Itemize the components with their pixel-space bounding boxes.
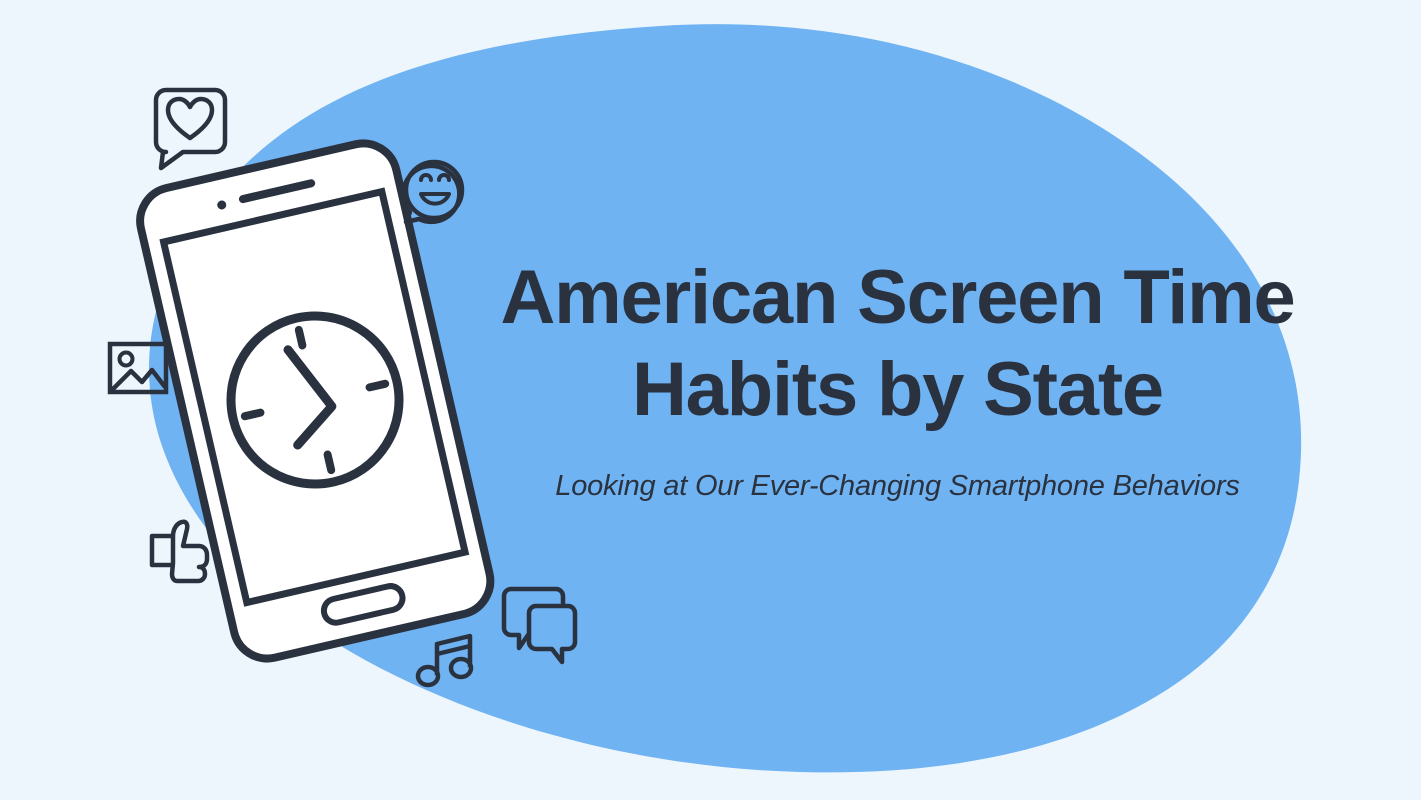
clock-tick-9 [245,413,261,417]
smiley-bubble-circle [406,162,462,218]
clock-tick-3 [370,384,386,388]
music-note-stems [437,636,470,675]
thumbs-up-thumb [172,522,207,581]
thumbs-up-icon [152,522,207,581]
photo-mountains [112,370,165,390]
heart-message-icon [156,90,225,168]
photo-sun [120,353,133,366]
smiley-mouth [421,194,449,204]
page-title: American Screen TimeHabits by State [470,252,1325,436]
chat-bubble-front [529,606,575,662]
smiley-message-icon [403,162,462,222]
heart-shape [168,99,212,138]
headline-block: American Screen TimeHabits by State Look… [470,252,1325,504]
page-subtitle: Looking at Our Ever-Changing Smartphone … [470,468,1325,504]
clock-tick-6 [328,455,332,471]
photo-icon [110,344,166,392]
music-note-head-left [418,667,438,685]
music-note-icon [418,636,471,685]
clock-tick-12 [299,330,303,346]
smiley-eye-left [421,175,431,180]
music-note-head-right [451,659,471,677]
chat-bubbles-icon [504,589,575,662]
thumbs-up-cuff [152,536,173,565]
heart-bubble-outline [156,90,225,168]
phone-screen [164,192,465,603]
title-line-1: American Screen Time [500,255,1294,340]
title-slide: American Screen TimeHabits by State Look… [0,0,1421,800]
music-note-beam [437,646,470,654]
smiley-eye-right [439,175,449,180]
title-line-2: Habits by State [470,344,1325,436]
